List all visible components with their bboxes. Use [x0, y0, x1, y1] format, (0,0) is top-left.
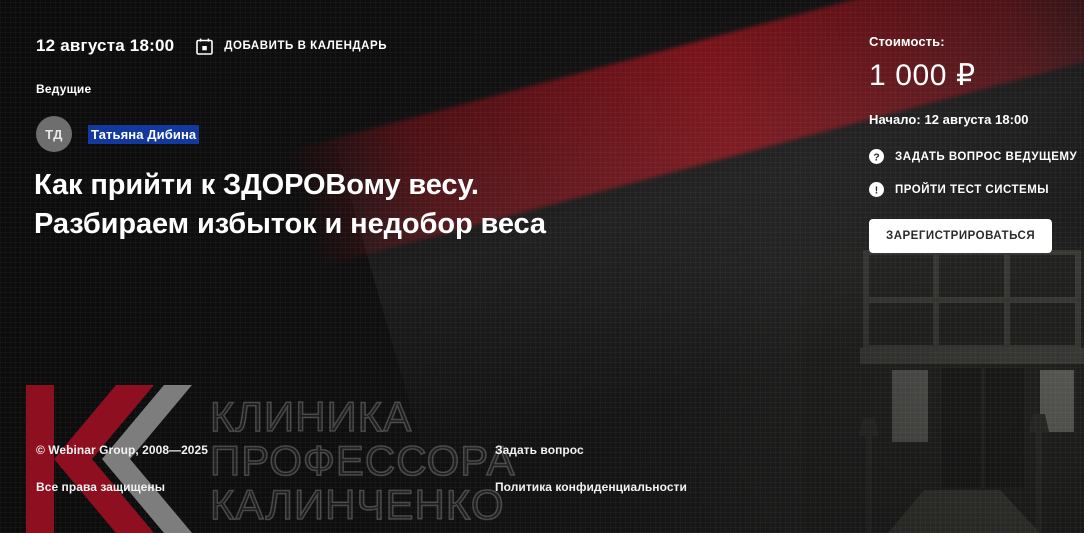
footer-ask-question-link[interactable]: Задать вопрос — [495, 443, 687, 457]
svg-text:?: ? — [873, 152, 879, 163]
calendar-icon — [196, 38, 213, 55]
footer-links-column: Задать вопрос Политика конфиденциальност… — [495, 443, 687, 494]
start-time-line: Начало: 12 августа 18:00 — [869, 112, 1069, 127]
register-button[interactable]: ЗАРЕГИСТРИРОВАТЬСЯ — [869, 219, 1052, 253]
registration-panel: Стоимость: 1 000 ₽ Начало: 12 августа 18… — [869, 34, 1069, 253]
event-date-time: 12 августа 18:00 — [36, 36, 174, 56]
exclamation-circle-icon: ! — [869, 182, 884, 197]
footer-rights: Все права защищены — [36, 480, 208, 494]
system-test-button[interactable]: ! ПРОЙТИ ТЕСТ СИСТЕМЫ — [869, 182, 1049, 197]
footer-privacy-policy-link[interactable]: Политика конфиденциальности — [495, 480, 687, 494]
host-avatar: ТД — [36, 116, 72, 152]
price-label: Стоимость: — [869, 34, 1069, 49]
page-footer: © Webinar Group, 2008—2025 Все права защ… — [0, 423, 1084, 533]
footer-copyright: © Webinar Group, 2008—2025 — [36, 443, 208, 457]
host-name[interactable]: Татьяна Дибина — [88, 125, 199, 144]
svg-text:!: ! — [875, 185, 878, 196]
ask-host-question-label: ЗАДАТЬ ВОПРОС ВЕДУЩЕМУ — [895, 151, 1077, 163]
question-circle-icon: ? — [869, 149, 884, 164]
system-test-label: ПРОЙТИ ТЕСТ СИСТЕМЫ — [895, 184, 1049, 196]
event-date-row: 12 августа 18:00 ДОБАВИТЬ В КАЛЕНДАРЬ — [36, 36, 387, 56]
event-title: Как прийти к ЗДОРОВому весу. Разбираем и… — [34, 166, 634, 244]
ask-host-question-button[interactable]: ? ЗАДАТЬ ВОПРОС ВЕДУЩЕМУ — [869, 149, 1077, 164]
add-to-calendar-label: ДОБАВИТЬ В КАЛЕНДАРЬ — [224, 40, 387, 52]
host-row[interactable]: ТД Татьяна Дибина — [36, 116, 199, 152]
webinar-landing-page: КЛИНИКА ПРОФЕССОРА КАЛИНЧЕНКО 12 августа… — [0, 0, 1084, 533]
price-value: 1 000 ₽ — [869, 58, 1069, 93]
hosts-section-label: Ведущие — [36, 82, 91, 96]
page-content: 12 августа 18:00 ДОБАВИТЬ В КАЛЕНДАРЬ Ве… — [0, 0, 1084, 533]
add-to-calendar-button[interactable]: ДОБАВИТЬ В КАЛЕНДАРЬ — [196, 38, 387, 55]
footer-legal-column: © Webinar Group, 2008—2025 Все права защ… — [36, 443, 208, 494]
